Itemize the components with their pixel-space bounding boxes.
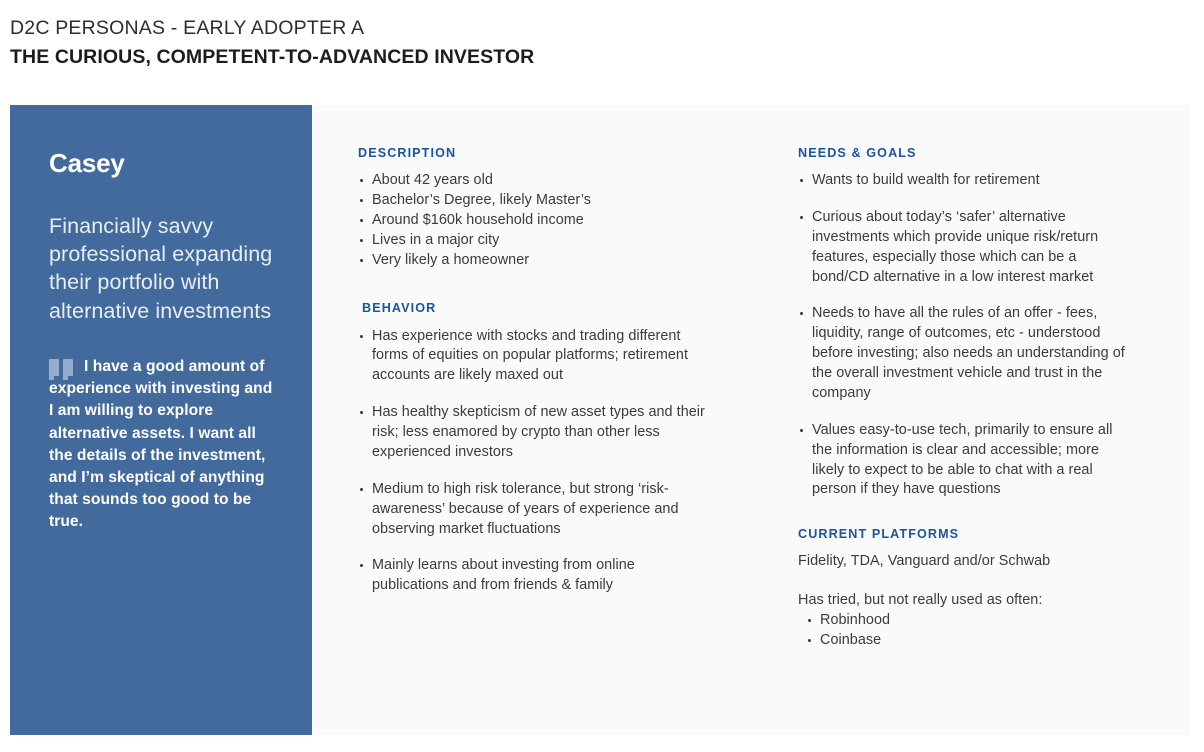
persona-sidebar: Casey Financially savvy professional exp… (10, 105, 312, 735)
list-item: Robinhood (798, 611, 1128, 631)
current-platforms-primary: Fidelity, TDA, Vanguard and/or Schwab (798, 552, 1128, 572)
persona-content: DESCRIPTION About 42 years old Bachelor’… (312, 105, 1190, 735)
list-item: Coinbase (798, 631, 1128, 651)
list-item: Medium to high risk tolerance, but stron… (358, 480, 708, 540)
list-item: Very likely a homeowner (358, 251, 708, 271)
persona-summary: Financially savvy professional expanding… (49, 212, 274, 326)
page-title: THE CURIOUS, COMPETENT-TO-ADVANCED INVES… (10, 45, 1204, 69)
list-item: Lives in a major city (358, 231, 708, 251)
persona-quote-text: I have a good amount of experience with … (49, 358, 272, 530)
section-heading-current-platforms: CURRENT PLATFORMS (798, 527, 1128, 542)
description-list: About 42 years old Bachelor’s Degree, li… (358, 171, 708, 270)
list-item: Has healthy skepticism of new asset type… (358, 403, 708, 463)
section-spacer (358, 270, 708, 301)
section-current-platforms: CURRENT PLATFORMS Fidelity, TDA, Vanguar… (798, 527, 1128, 651)
list-item: Needs to have all the rules of an offer … (798, 304, 1128, 403)
persona-card: Casey Financially savvy professional exp… (10, 105, 1190, 735)
text-spacer (798, 572, 1128, 591)
list-item: Curious about today’s ‘safer’ alternativ… (798, 208, 1128, 288)
section-heading-behavior: BEHAVIOR (358, 301, 708, 316)
section-spacer (798, 500, 1128, 527)
list-item: Mainly learns about investing from onlin… (358, 556, 708, 596)
quote-mark-icon (49, 359, 77, 381)
persona-name: Casey (49, 149, 274, 178)
list-item: Bachelor’s Degree, likely Master’s (358, 191, 708, 211)
needs-goals-list: Wants to build wealth for retirement Cur… (798, 171, 1128, 500)
list-item: Wants to build wealth for retirement (798, 171, 1128, 191)
section-behavior: BEHAVIOR Has experience with stocks and … (358, 301, 708, 596)
section-heading-needs-goals: NEEDS & GOALS (798, 146, 1128, 161)
page-header: D2C PERSONAS - EARLY ADOPTER A THE CURIO… (0, 0, 1204, 70)
section-needs-goals: NEEDS & GOALS Wants to build wealth for … (798, 146, 1128, 500)
section-description: DESCRIPTION About 42 years old Bachelor’… (358, 146, 708, 270)
current-platforms-secondary-label: Has tried, but not really used as often: (798, 591, 1128, 611)
persona-quote: I have a good amount of experience with … (49, 356, 274, 533)
content-column-left: DESCRIPTION About 42 years old Bachelor’… (312, 146, 732, 735)
list-item: Values easy-to-use tech, primarily to en… (798, 421, 1128, 501)
list-item: Has experience with stocks and trading d… (358, 327, 708, 387)
content-column-right: NEEDS & GOALS Wants to build wealth for … (732, 146, 1152, 735)
current-platforms-secondary-list: Robinhood Coinbase (798, 611, 1128, 651)
breadcrumb-eyebrow: D2C PERSONAS - EARLY ADOPTER A (10, 16, 1204, 40)
list-item: About 42 years old (358, 171, 708, 191)
behavior-list: Has experience with stocks and trading d… (358, 327, 708, 597)
section-heading-description: DESCRIPTION (358, 146, 708, 161)
list-item: Around $160k household income (358, 211, 708, 231)
